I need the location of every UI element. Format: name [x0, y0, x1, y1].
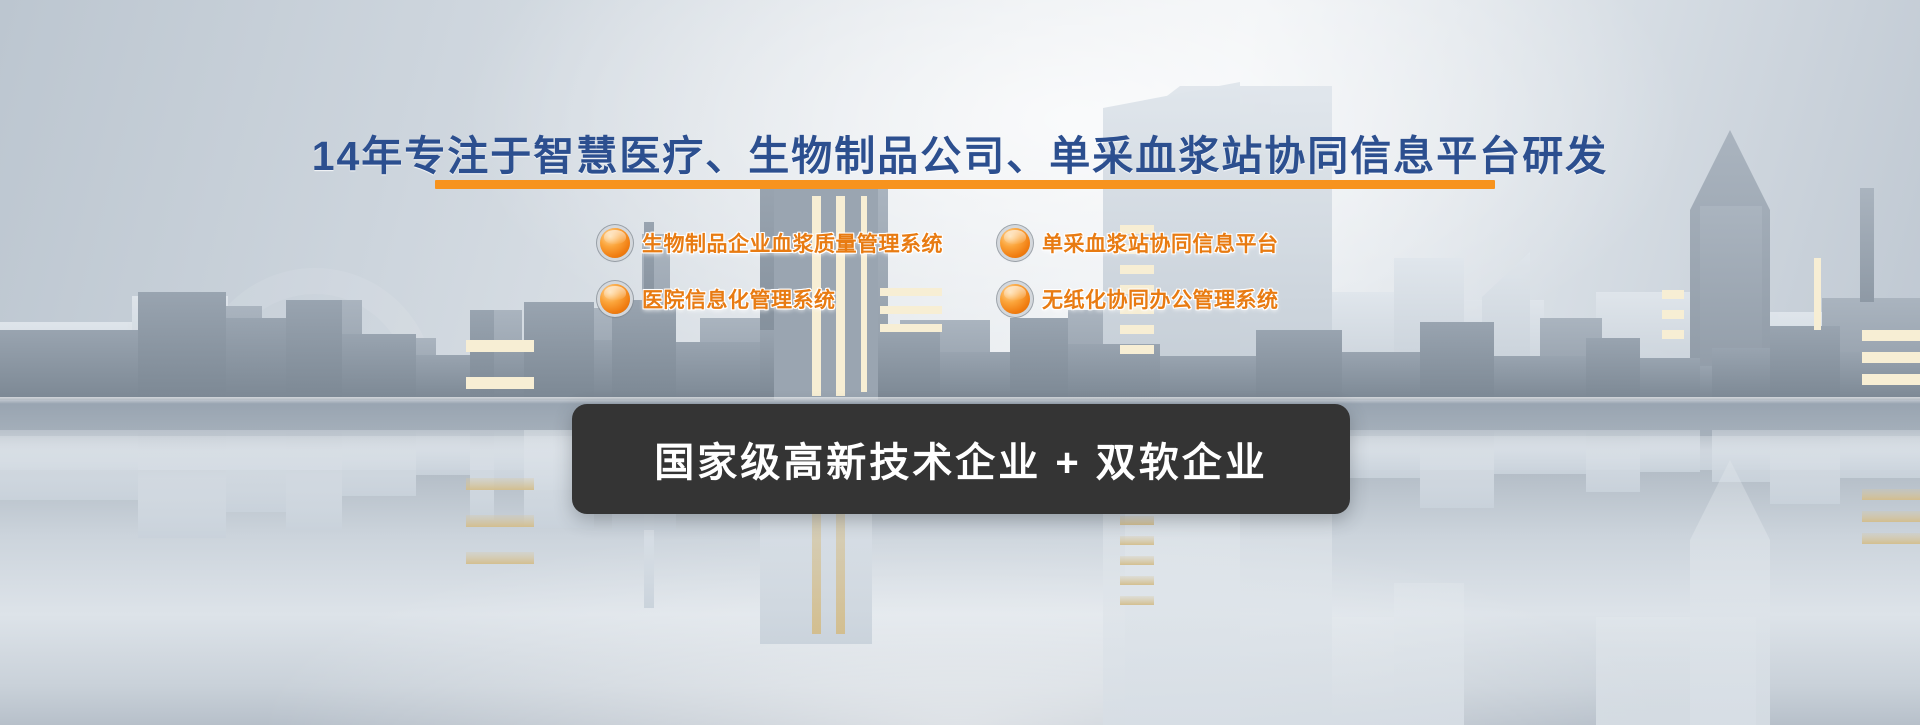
feature-item-paperless-office[interactable]: 无纸化协同办公管理系统: [1000, 284, 1279, 314]
feature-item-label: 无纸化协同办公管理系统: [1042, 284, 1279, 314]
feature-item-plasma-quality[interactable]: 生物制品企业血浆质量管理系统: [600, 228, 943, 258]
feature-item-hospital-info[interactable]: 医院信息化管理系统: [600, 284, 836, 314]
orange-sphere-bullet-icon: [1000, 228, 1030, 258]
credential-badge: 国家级高新技术企业 + 双软企业: [572, 404, 1350, 514]
feature-item-label: 单采血浆站协同信息平台: [1042, 228, 1279, 258]
page-title: 14年专注于智慧医疗、生物制品公司、单采血浆站协同信息平台研发: [0, 122, 1920, 182]
feature-item-label: 医院信息化管理系统: [642, 284, 836, 314]
orange-sphere-bullet-icon: [600, 284, 630, 314]
orange-sphere-bullet-icon: [600, 228, 630, 258]
orange-sphere-bullet-icon: [1000, 284, 1030, 314]
headline-underline-rule: [435, 180, 1495, 189]
hero-banner: 14年专注于智慧医疗、生物制品公司、单采血浆站协同信息平台研发 生物制品企业血浆…: [0, 0, 1920, 725]
credential-badge-text: 国家级高新技术企业 + 双软企业: [654, 430, 1268, 488]
feature-list: 生物制品企业血浆质量管理系统 单采血浆站协同信息平台 医院信息化管理系统 无纸化…: [600, 228, 1360, 348]
feature-item-label: 生物制品企业血浆质量管理系统: [642, 228, 943, 258]
feature-item-plasma-station[interactable]: 单采血浆站协同信息平台: [1000, 228, 1279, 258]
